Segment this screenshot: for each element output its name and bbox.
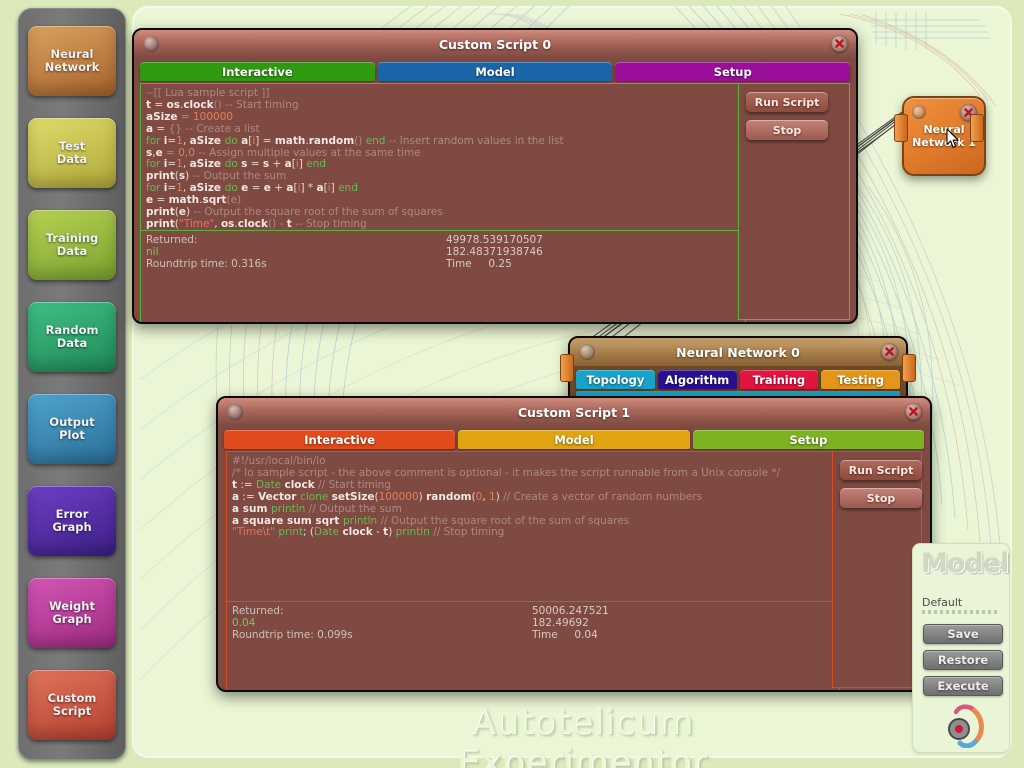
- window-custom-script-0[interactable]: Custom Script 0 Interactive Model Setup …: [132, 28, 858, 324]
- output-panel-custom-script-1: Returned: 0.04 Roundtrip time: 0.099s 50…: [226, 601, 840, 692]
- tab-label: Model: [475, 65, 514, 79]
- code-line: t = os.clock() -- Start timing: [146, 100, 740, 112]
- window-grip-handle[interactable]: [143, 36, 159, 52]
- tab-label: Interactive: [222, 65, 293, 79]
- tab-label: Training: [753, 373, 806, 387]
- sidebar-item-random-data[interactable]: Random Data: [28, 302, 116, 372]
- tab-training[interactable]: Training: [740, 370, 819, 389]
- tab-setup[interactable]: Setup: [693, 430, 924, 449]
- window-grip-handle[interactable]: [912, 105, 926, 119]
- tab-interactive[interactable]: Interactive: [140, 62, 375, 81]
- connector-port-left[interactable]: [560, 354, 574, 382]
- sidebar-item-label: Error Graph: [52, 508, 91, 534]
- returned-label: Returned:: [146, 235, 446, 247]
- tab-setup[interactable]: Setup: [615, 62, 850, 81]
- tab-model[interactable]: Model: [378, 62, 613, 81]
- sidebar-item-label: Output Plot: [49, 416, 94, 442]
- node-label: Neural Network 1: [912, 123, 976, 149]
- close-icon[interactable]: [905, 403, 922, 420]
- window-grip-handle[interactable]: [579, 344, 595, 360]
- sidebar-item-label: Random Data: [46, 324, 99, 350]
- window-title: Neural Network 0: [676, 345, 800, 360]
- output-value-3: Time 0.04: [532, 630, 609, 642]
- tool-rail: Neural Network Test Data Training Data R…: [18, 8, 126, 760]
- run-script-button[interactable]: Run Script: [840, 460, 922, 480]
- execute-button[interactable]: Execute: [923, 676, 1003, 696]
- sidebar-item-training-data[interactable]: Training Data: [28, 210, 116, 280]
- model-panel: Model Default Save Restore Execute: [912, 543, 1010, 753]
- tab-label: Interactive: [304, 433, 375, 447]
- model-panel-heading: Model: [921, 548, 1008, 579]
- app-logo-icon: [937, 702, 987, 748]
- roundtrip-time: Roundtrip time: 0.316s: [146, 259, 446, 271]
- sidebar-item-error-graph[interactable]: Error Graph: [28, 486, 116, 556]
- run-script-label: Run Script: [849, 464, 914, 477]
- run-script-button[interactable]: Run Script: [746, 92, 828, 112]
- code-line: "Time\t" print; (Date clock - t) println…: [232, 527, 834, 539]
- tab-algorithm[interactable]: Algorithm: [658, 370, 737, 389]
- close-icon[interactable]: [881, 343, 898, 360]
- script-editor-custom-script-0[interactable]: --[[ Lua sample script ]]t = os.clock() …: [140, 83, 746, 238]
- mouse-cursor-icon: [946, 128, 960, 149]
- script-actions-custom-script-0: Run Script Stop: [746, 92, 828, 140]
- tab-label: Setup: [714, 65, 752, 79]
- tab-model[interactable]: Model: [458, 430, 689, 449]
- restore-button[interactable]: Restore: [923, 650, 1003, 670]
- script-editor-custom-script-1[interactable]: #!/usr/local/bin/io/* Io sample script -…: [226, 451, 840, 609]
- tab-testing[interactable]: Testing: [821, 370, 900, 389]
- save-button[interactable]: Save: [923, 624, 1003, 644]
- restore-label: Restore: [938, 653, 988, 667]
- app-root: Neural Network Test Data Training Data R…: [0, 0, 1024, 768]
- save-label: Save: [947, 627, 978, 641]
- run-script-label: Run Script: [755, 96, 820, 109]
- tab-label: Testing: [837, 373, 884, 387]
- sidebar-item-label: Neural Network: [45, 48, 100, 74]
- sidebar-item-test-data[interactable]: Test Data: [28, 118, 116, 188]
- sidebar-item-label: Custom Script: [48, 692, 97, 718]
- returned-label: Returned:: [232, 606, 532, 618]
- window-grip-handle[interactable]: [227, 404, 243, 420]
- titlebar-custom-script-1[interactable]: Custom Script 1: [218, 398, 930, 426]
- connector-port-left[interactable]: [894, 114, 908, 142]
- tab-label: Topology: [586, 373, 644, 387]
- tabbar-custom-script-0: Interactive Model Setup: [140, 62, 850, 81]
- sidebar-item-output-plot[interactable]: Output Plot: [28, 394, 116, 464]
- tabbar-neural-network-0: Topology Algorithm Training Testing: [576, 370, 900, 389]
- connector-port-right[interactable]: [970, 114, 984, 142]
- tabbar-custom-script-1: Interactive Model Setup: [224, 430, 924, 449]
- sidebar-item-label: Weight Graph: [49, 600, 95, 626]
- connector-port-right[interactable]: [902, 354, 916, 382]
- roundtrip-time: Roundtrip time: 0.099s: [232, 630, 532, 642]
- window-custom-script-1[interactable]: Custom Script 1 Interactive Model Setup …: [216, 396, 932, 692]
- stop-button[interactable]: Stop: [746, 120, 828, 140]
- output-value-3: Time 0.25: [446, 259, 543, 271]
- sidebar-item-neural-network[interactable]: Neural Network: [28, 26, 116, 96]
- script-actions-custom-script-1: Run Script Stop: [840, 460, 922, 508]
- sidebar-item-label: Test Data: [57, 140, 88, 166]
- execute-label: Execute: [937, 679, 988, 693]
- titlebar-neural-network-0[interactable]: Neural Network 0: [570, 338, 906, 366]
- model-divider: [922, 610, 998, 614]
- tab-label: Model: [554, 433, 593, 447]
- close-icon[interactable]: [831, 35, 848, 52]
- tab-label: Setup: [789, 433, 827, 447]
- window-title: Custom Script 0: [439, 37, 551, 52]
- titlebar-custom-script-0[interactable]: Custom Script 0: [134, 30, 856, 58]
- sidebar-item-custom-script[interactable]: Custom Script: [28, 670, 116, 740]
- tab-topology[interactable]: Topology: [576, 370, 655, 389]
- stop-button[interactable]: Stop: [840, 488, 922, 508]
- sidebar-item-weight-graph[interactable]: Weight Graph: [28, 578, 116, 648]
- sidebar-item-label: Training Data: [46, 232, 99, 258]
- output-panel-custom-script-0: Returned: nil Roundtrip time: 0.316s 499…: [140, 230, 746, 324]
- model-preset-label: Default: [922, 596, 962, 609]
- app-title: Autotelicum Experimentor: [372, 702, 792, 750]
- stop-label: Stop: [773, 124, 802, 137]
- window-title: Custom Script 1: [518, 405, 630, 420]
- tab-interactive[interactable]: Interactive: [224, 430, 455, 449]
- stop-label: Stop: [867, 492, 896, 505]
- tab-label: Algorithm: [665, 373, 729, 387]
